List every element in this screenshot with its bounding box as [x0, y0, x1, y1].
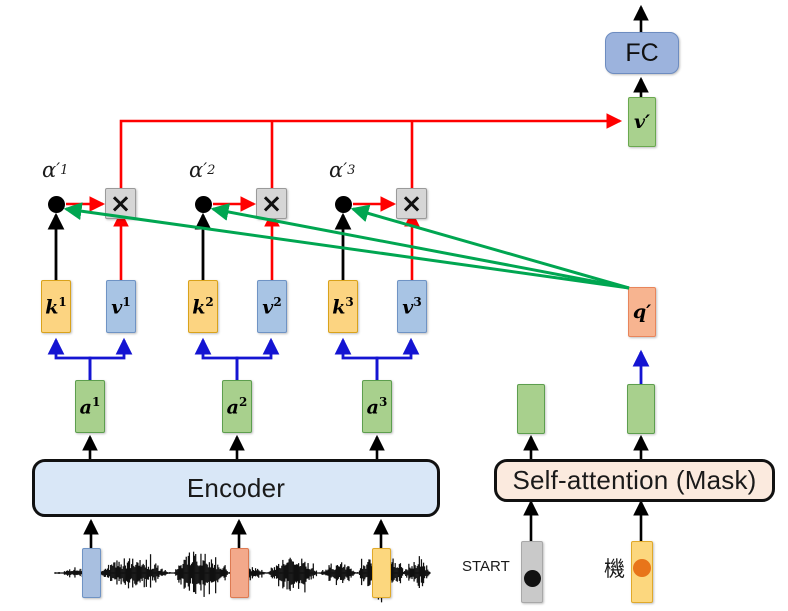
qprime-to-alpha3 [353, 209, 629, 288]
diagram-canvas: FC v′ q′ α′1 × k1 v1 a1 α′2 × k2 v2 a2 α… [0, 0, 788, 611]
attention-score-wires [0, 0, 788, 611]
qprime-to-alpha2 [213, 209, 629, 288]
token-first-character-dot [633, 559, 651, 577]
token-start-dot [524, 570, 541, 587]
qprime-to-alpha1 [66, 209, 629, 288]
